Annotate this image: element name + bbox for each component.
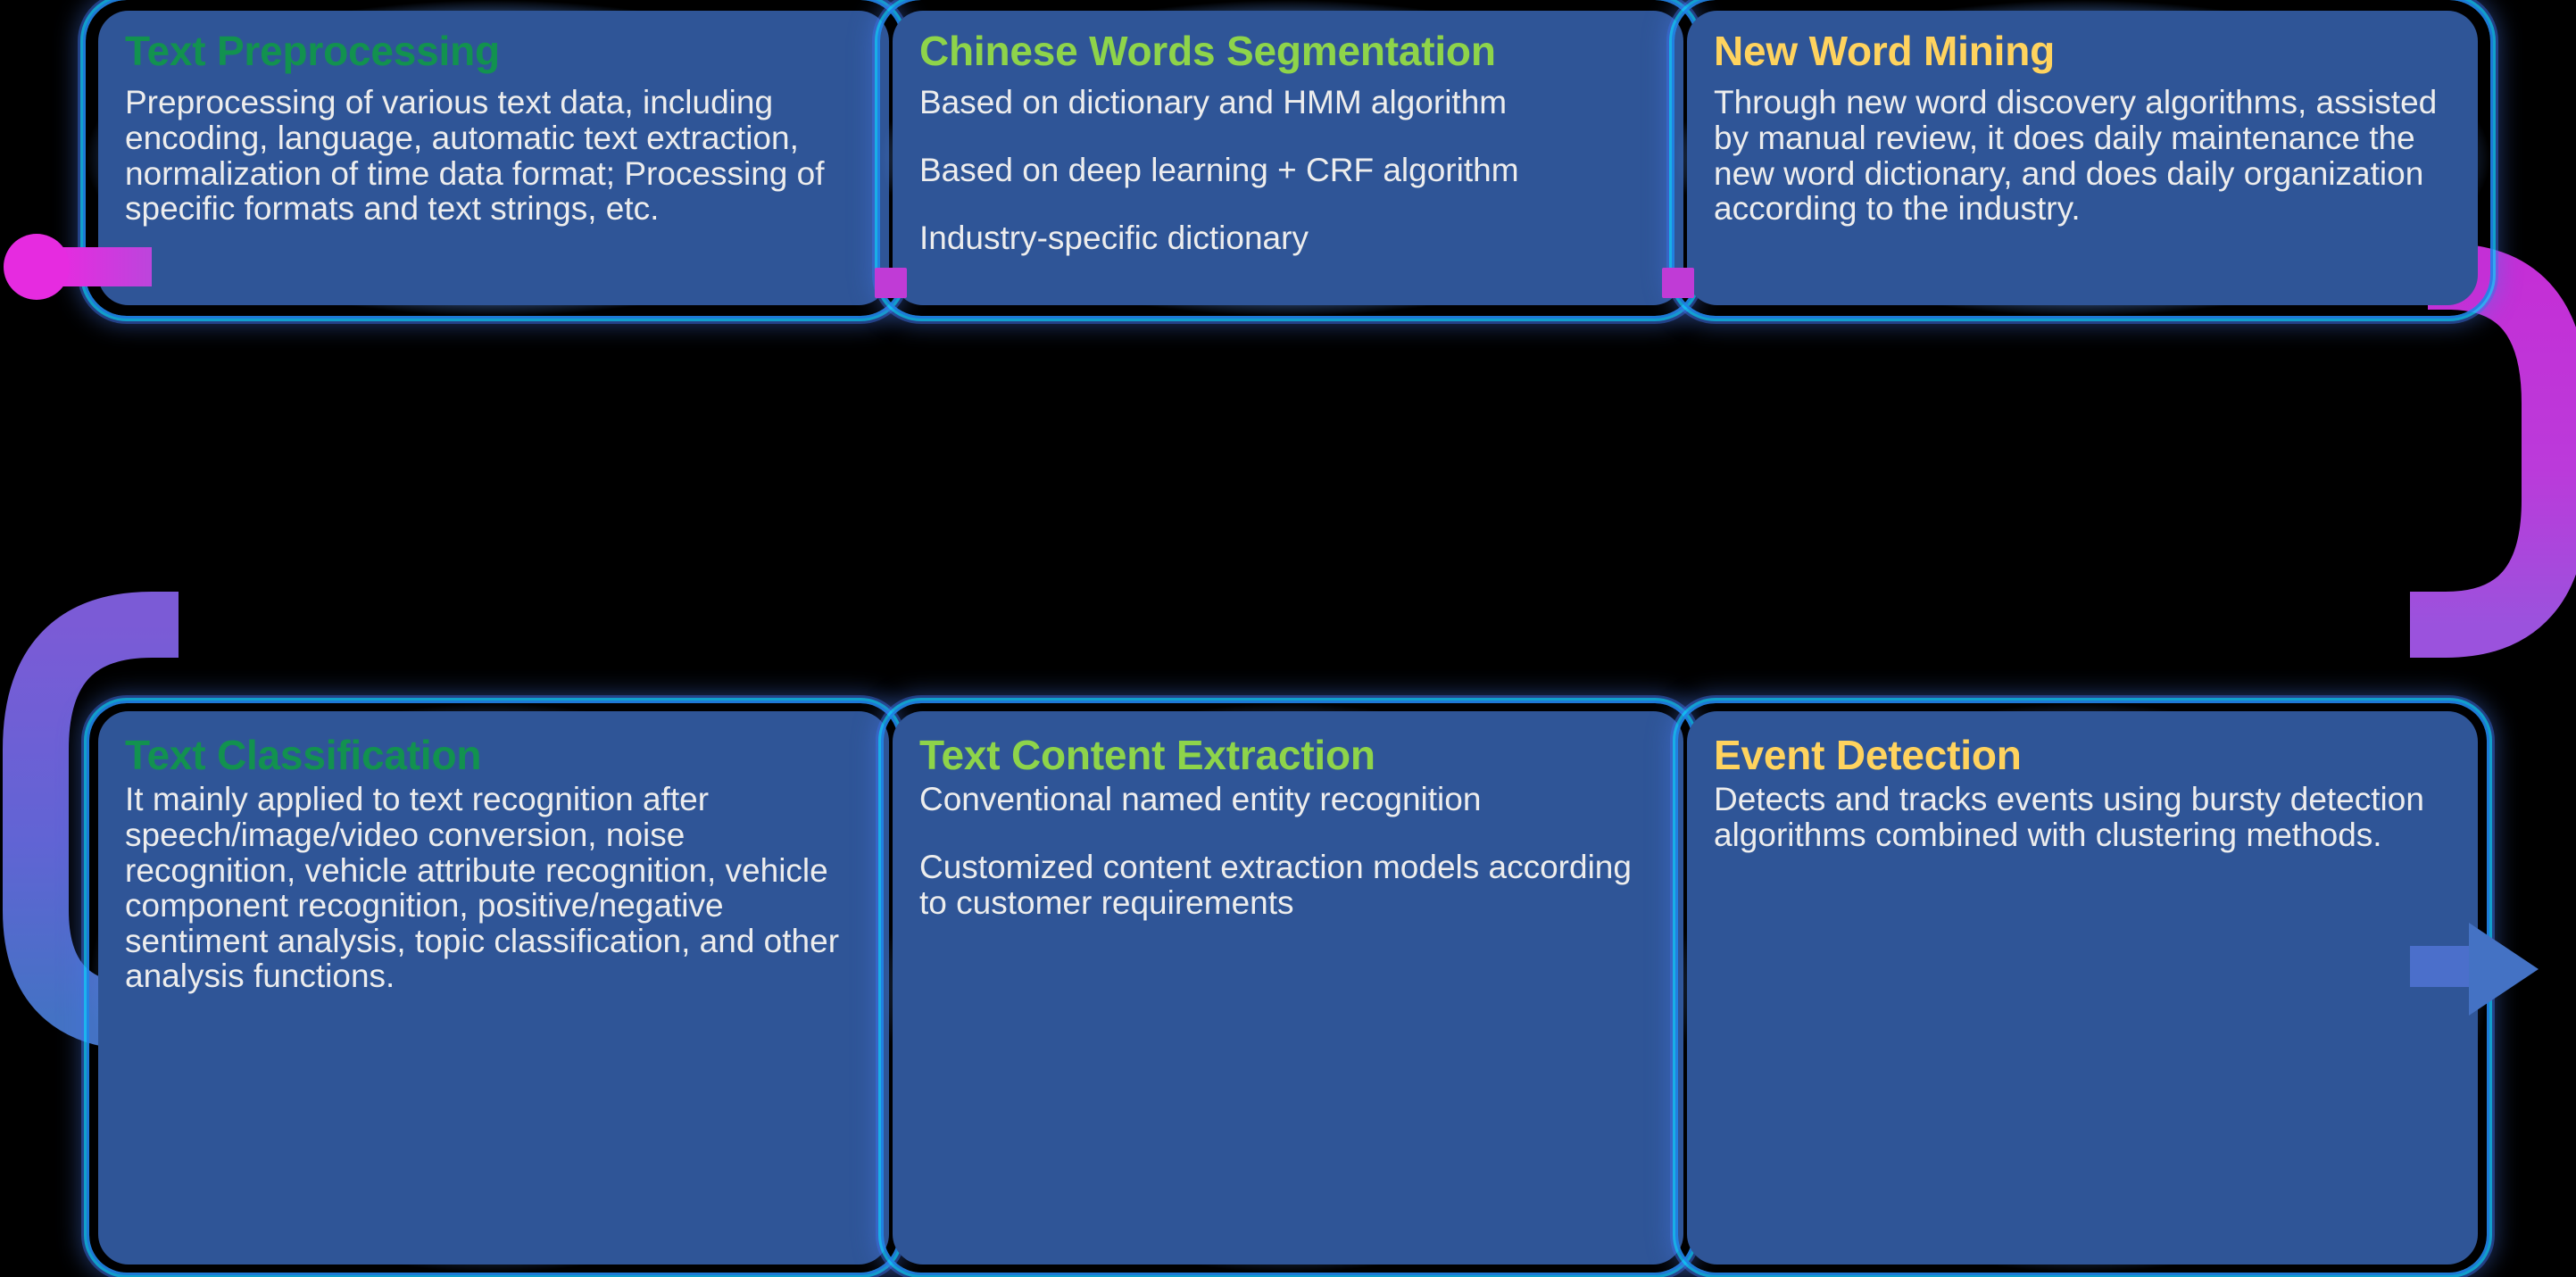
card-title: Text Preprocessing	[125, 30, 862, 72]
card-title: New Word Mining	[1714, 30, 2451, 72]
card-body: It mainly applied to text recognition af…	[125, 782, 862, 993]
connector-square-1	[875, 268, 907, 298]
card-text-classification[interactable]: Text Classification It mainly applied to…	[98, 711, 889, 1265]
card-body-paragraph: Detects and tracks events using bursty d…	[1714, 782, 2451, 852]
start-marker-dot	[4, 234, 70, 300]
card-chinese-words-segmentation[interactable]: Chinese Words Segmentation Based on dict…	[893, 11, 1683, 305]
end-connector-bar	[2410, 946, 2472, 987]
card-body-paragraph: Based on dictionary and HMM algorithm	[919, 85, 1657, 120]
diagram-canvas: Text Preprocessing Preprocessing of vari…	[0, 0, 2576, 1277]
card-title: Text Content Extraction	[919, 734, 1657, 776]
card-body-paragraph: Industry-specific dictionary	[919, 220, 1657, 256]
card-body-paragraph: Based on deep learning + CRF algorithm	[919, 153, 1657, 188]
card-title: Event Detection	[1714, 734, 2451, 776]
card-body-paragraph: Conventional named entity recognition	[919, 782, 1657, 817]
connector-square-2	[1662, 268, 1694, 298]
bottom-row: Text Classification It mainly applied to…	[98, 711, 2478, 1265]
card-body: Preprocessing of various text data, incl…	[125, 85, 862, 226]
card-body-paragraph: Through new word discovery algorithms, a…	[1714, 85, 2451, 226]
card-title: Text Classification	[125, 734, 862, 776]
card-new-word-mining[interactable]: New Word Mining Through new word discove…	[1687, 11, 2478, 305]
card-body-paragraph: Customized content extraction models acc…	[919, 850, 1657, 920]
top-row: Text Preprocessing Preprocessing of vari…	[98, 11, 2478, 305]
card-body: Detects and tracks events using bursty d…	[1714, 782, 2451, 852]
card-body: Based on dictionary and HMM algorithm Ba…	[919, 85, 1657, 255]
end-arrow-icon	[2469, 923, 2539, 1016]
card-title: Chinese Words Segmentation	[919, 30, 1657, 72]
right-arc-connector	[2410, 277, 2555, 625]
card-body: Through new word discovery algorithms, a…	[1714, 85, 2451, 226]
card-body-paragraph: Preprocessing of various text data, incl…	[125, 85, 862, 226]
card-text-content-extraction[interactable]: Text Content Extraction Conventional nam…	[893, 711, 1683, 1265]
card-event-detection[interactable]: Event Detection Detects and tracks event…	[1687, 711, 2478, 1265]
card-body-paragraph: It mainly applied to text recognition af…	[125, 782, 862, 993]
card-body: Conventional named entity recognition Cu…	[919, 782, 1657, 920]
start-connector-bar	[59, 247, 152, 286]
card-text-preprocessing[interactable]: Text Preprocessing Preprocessing of vari…	[98, 11, 889, 305]
